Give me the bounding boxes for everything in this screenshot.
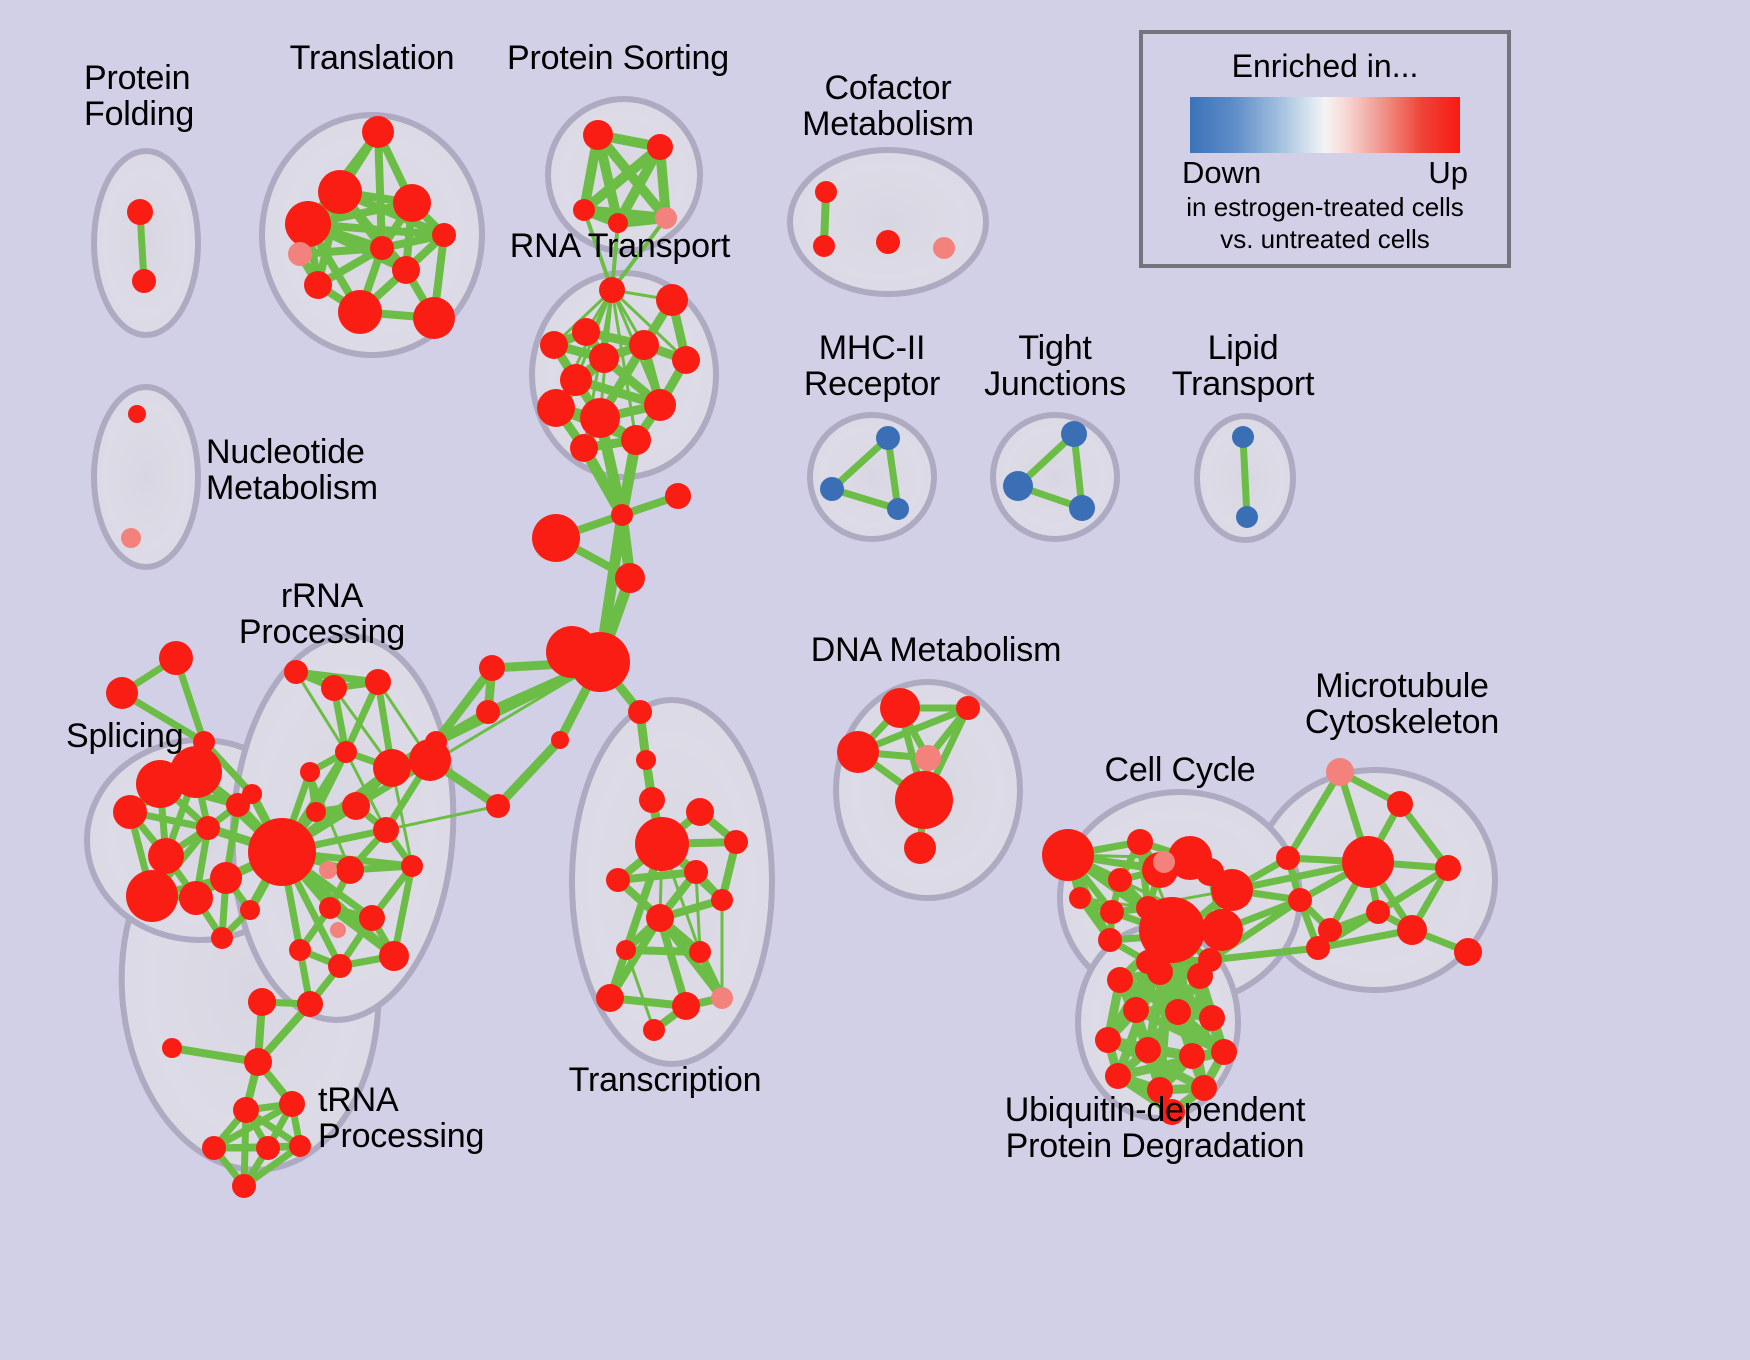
node-up xyxy=(393,184,431,222)
node-up xyxy=(1187,963,1213,989)
node-up xyxy=(639,787,665,813)
node-up xyxy=(599,277,625,303)
node-up xyxy=(306,802,326,822)
node-up xyxy=(476,700,500,724)
node-up xyxy=(126,870,178,922)
cluster-label-splicing: Splicing xyxy=(66,718,183,754)
node-up xyxy=(956,696,980,720)
node-down xyxy=(1236,506,1258,528)
legend-caption-line1: in estrogen-treated cells xyxy=(1143,193,1507,223)
node-up xyxy=(596,984,624,1012)
legend-down-label: Down xyxy=(1182,155,1261,191)
node-up xyxy=(248,818,316,886)
node-up xyxy=(362,116,394,148)
node-up xyxy=(647,134,673,160)
node-up xyxy=(1100,900,1124,924)
node-up xyxy=(672,346,700,374)
node-up xyxy=(318,170,362,214)
cluster-label-nucleotide-metabolism: Nucleotide Metabolism xyxy=(206,434,378,506)
node-up xyxy=(546,626,598,678)
node-up xyxy=(711,889,733,911)
node-up xyxy=(1342,836,1394,888)
node-up-pale xyxy=(288,242,312,266)
node-up xyxy=(1095,1027,1121,1053)
node-up xyxy=(635,817,689,871)
node-up xyxy=(113,795,147,829)
node-up xyxy=(1397,915,1427,945)
node-up xyxy=(573,199,595,221)
node-up xyxy=(321,675,347,701)
cluster-label-rna-transport: RNA Transport xyxy=(510,228,730,264)
node-up xyxy=(837,731,879,773)
node-up xyxy=(370,236,394,260)
node-up xyxy=(210,862,242,894)
cluster-hull-protein-folding xyxy=(94,151,198,335)
node-up xyxy=(1179,1043,1205,1069)
node-up xyxy=(232,1174,256,1198)
node-up xyxy=(1288,888,1312,912)
node-up xyxy=(646,904,674,932)
node-up xyxy=(1211,869,1253,911)
node-up xyxy=(1306,936,1330,960)
node-up xyxy=(1098,928,1122,952)
node-up xyxy=(379,941,409,971)
node-up xyxy=(202,1136,226,1160)
node-up xyxy=(211,927,233,949)
node-up-pale xyxy=(319,861,337,879)
node-up xyxy=(479,655,505,681)
node-down xyxy=(876,426,900,450)
node-up xyxy=(196,816,220,840)
node-up xyxy=(401,855,423,877)
cluster-label-tight-junctions: Tight Junctions xyxy=(984,330,1126,402)
node-up xyxy=(572,318,600,346)
node-up xyxy=(148,838,184,874)
node-up xyxy=(1387,791,1413,817)
node-up-pale xyxy=(711,987,733,1009)
node-up xyxy=(338,290,382,334)
node-up xyxy=(551,731,569,749)
node-up xyxy=(643,1019,665,1041)
node-up-pale xyxy=(330,922,346,938)
cluster-hull-cofactor-metabolism xyxy=(790,150,986,294)
node-up xyxy=(304,271,332,299)
legend-caption-line2: vs. untreated cells xyxy=(1143,225,1507,255)
node-down xyxy=(887,498,909,520)
node-up xyxy=(413,297,455,339)
node-up xyxy=(1276,846,1300,870)
node-up xyxy=(684,860,708,884)
node-down xyxy=(1232,426,1254,448)
node-down xyxy=(820,477,844,501)
node-up xyxy=(672,992,700,1020)
node-up xyxy=(1147,959,1173,985)
cluster-label-ubiquitin-protein-degradation: Ubiquitin-dependent Protein Degradation xyxy=(1005,1092,1306,1164)
node-up xyxy=(106,677,138,709)
node-up xyxy=(1127,829,1153,855)
node-up xyxy=(240,900,260,920)
node-up xyxy=(365,669,391,695)
cluster-label-mhc-ii-receptor: MHC-II Receptor xyxy=(804,330,940,402)
node-up xyxy=(300,762,320,782)
node-up xyxy=(615,563,645,593)
node-up xyxy=(606,868,630,892)
node-up xyxy=(373,817,399,843)
node-up xyxy=(284,660,308,684)
node-up xyxy=(1135,1037,1161,1063)
node-up xyxy=(895,771,953,829)
node-up xyxy=(876,230,900,254)
node-up xyxy=(279,1091,305,1117)
node-up xyxy=(1454,938,1482,966)
cluster-label-protein-sorting: Protein Sorting xyxy=(507,40,729,76)
node-up xyxy=(1211,1039,1237,1065)
node-up xyxy=(159,641,193,675)
node-up xyxy=(904,832,936,864)
cluster-label-cofactor-metabolism: Cofactor Metabolism xyxy=(802,70,974,142)
node-up xyxy=(128,405,146,423)
cluster-label-protein-folding: Protein Folding xyxy=(84,60,194,132)
cluster-hull-mhc-ii-receptor xyxy=(810,415,934,539)
node-up xyxy=(285,201,331,247)
node-up xyxy=(813,235,835,257)
node-up xyxy=(589,343,619,373)
node-up xyxy=(359,905,385,931)
node-up xyxy=(583,120,613,150)
node-up xyxy=(289,1135,311,1157)
cluster-label-microtubule-cytoskeleton: Microtubule Cytoskeleton xyxy=(1305,668,1499,740)
node-up xyxy=(1108,868,1132,892)
node-up xyxy=(656,284,688,316)
node-up xyxy=(644,389,676,421)
node-down xyxy=(1061,421,1087,447)
node-up xyxy=(127,199,153,225)
legend-up-label: Up xyxy=(1428,155,1468,191)
legend-box: Enriched in... Down Up in estrogen-treat… xyxy=(1139,30,1511,268)
node-up xyxy=(689,941,711,963)
node-up-pale xyxy=(1153,851,1175,873)
node-up xyxy=(233,1097,259,1123)
node-up-pale xyxy=(655,207,677,229)
cluster-label-translation: Translation xyxy=(290,40,455,76)
node-up xyxy=(256,1136,280,1160)
cluster-label-lipid-transport: Lipid Transport xyxy=(1172,330,1314,402)
node-up xyxy=(537,389,575,427)
cluster-label-cell-cycle: Cell Cycle xyxy=(1104,752,1255,788)
node-up-pale xyxy=(121,528,141,548)
node-up xyxy=(1435,855,1461,881)
node-up xyxy=(628,700,652,724)
node-up xyxy=(432,223,456,247)
node-up xyxy=(616,940,636,960)
cluster-label-trna-processing: tRNA Processing xyxy=(318,1082,484,1154)
node-up xyxy=(162,1038,182,1058)
enrichment-map-figure: Protein Folding Translation Protein Sort… xyxy=(0,0,1750,1360)
node-up xyxy=(1123,997,1149,1023)
node-up xyxy=(1105,1063,1131,1089)
node-up xyxy=(1042,829,1094,881)
node-up xyxy=(580,398,620,438)
node-up xyxy=(636,750,656,770)
node-up xyxy=(540,331,568,359)
node-up xyxy=(132,269,156,293)
cluster-label-rrna-processing: rRNA Processing xyxy=(239,578,405,650)
node-up-pale xyxy=(1326,758,1354,786)
cluster-label-transcription: Transcription xyxy=(569,1062,762,1098)
node-up xyxy=(1366,900,1390,924)
node-up xyxy=(297,991,323,1017)
node-up xyxy=(621,425,651,455)
node-up xyxy=(1139,897,1205,963)
cluster-label-dna-metabolism: DNA Metabolism xyxy=(811,632,1061,668)
node-up xyxy=(815,181,837,203)
node-up xyxy=(248,988,276,1016)
node-up-pale xyxy=(933,237,955,259)
node-up xyxy=(342,792,370,820)
node-up xyxy=(1199,1005,1225,1031)
node-up xyxy=(629,330,659,360)
node-up xyxy=(242,784,262,804)
legend-title: Enriched in... xyxy=(1143,48,1507,85)
node-up xyxy=(409,739,451,781)
node-up xyxy=(486,794,510,818)
node-up xyxy=(880,688,920,728)
node-up xyxy=(665,483,691,509)
node-up xyxy=(532,514,580,562)
legend-color-gradient-bar xyxy=(1190,97,1460,153)
node-up xyxy=(335,741,357,763)
node-up xyxy=(1165,999,1191,1025)
node-up xyxy=(179,881,213,915)
node-up xyxy=(244,1048,272,1076)
node-up xyxy=(686,798,714,826)
node-up xyxy=(724,830,748,854)
node-up xyxy=(611,504,633,526)
node-up xyxy=(328,954,352,978)
node-up-pale xyxy=(915,745,941,771)
node-up xyxy=(1201,909,1243,951)
node-up xyxy=(1069,887,1091,909)
node-up xyxy=(392,256,420,284)
node-up xyxy=(1107,967,1133,993)
node-up xyxy=(570,434,598,462)
node-up xyxy=(373,749,411,787)
node-up xyxy=(289,939,311,961)
node-up xyxy=(336,856,364,884)
node-up xyxy=(319,897,341,919)
node-down xyxy=(1069,495,1095,521)
node-down xyxy=(1003,471,1033,501)
